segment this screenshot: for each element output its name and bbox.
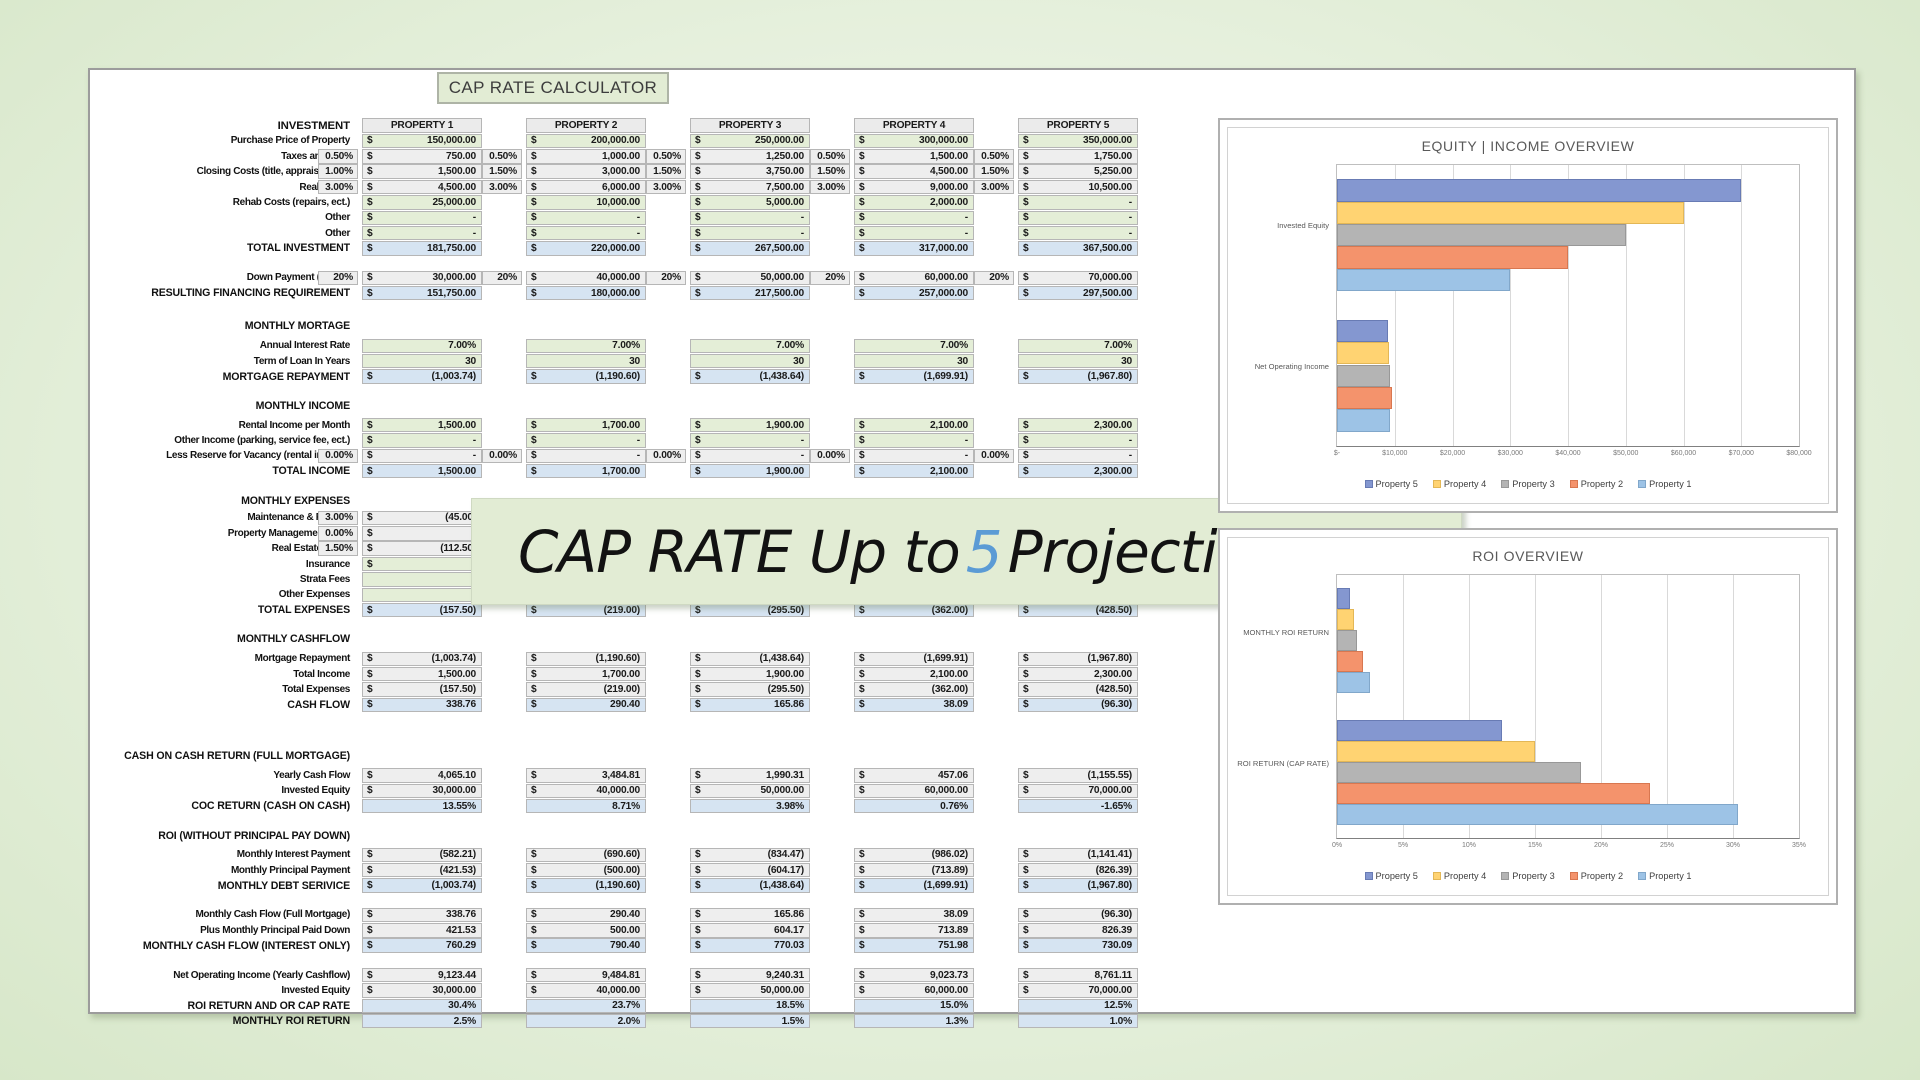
value-cell[interactable]: 8.71% — [526, 799, 646, 813]
value-cell[interactable]: $38.09 — [854, 698, 974, 712]
value-cell[interactable]: 7.00% — [362, 339, 482, 353]
legend-label: Property 4 — [1444, 871, 1486, 881]
table-row: Rental Income per Month$1,500.00$1,700.0… — [100, 418, 1200, 433]
chart-bar — [1337, 202, 1684, 224]
roi-overview-chart: ROI OVERVIEW 0%5%10%15%20%25%30%35%MONTH… — [1218, 528, 1838, 905]
value-cell[interactable]: $- — [1018, 226, 1138, 240]
value-cell[interactable]: $421.53 — [362, 923, 482, 937]
column-header: PROPERTY 3 — [690, 118, 810, 132]
value-cell[interactable]: $50,000.00 — [690, 983, 810, 997]
chart-bar — [1337, 609, 1354, 630]
value-cell[interactable]: $10,500.00 — [1018, 180, 1138, 194]
value-cell[interactable]: 18.5% — [690, 999, 810, 1013]
table-row: Rehab Costs (repairs, ect.)$25,000.00$10… — [100, 195, 1200, 210]
value-cell[interactable]: $- — [1018, 433, 1138, 447]
value-cell[interactable]: $60,000.00 — [854, 271, 974, 285]
value-cell[interactable]: 12.5% — [1018, 999, 1138, 1013]
value-cell[interactable]: $730.09 — [1018, 938, 1138, 952]
value-cell[interactable]: $297,500.00 — [1018, 286, 1138, 300]
table-row: CASH ON CASH RETURN (FULL MORTGAGE) — [100, 749, 1200, 764]
legend-item[interactable]: Property 1 — [1638, 479, 1691, 489]
percent-cell[interactable]: 0.50% — [810, 149, 850, 163]
chart2-title: ROI OVERVIEW — [1228, 548, 1828, 564]
value-cell[interactable]: 15.0% — [854, 999, 974, 1013]
value-cell[interactable]: $165.86 — [690, 908, 810, 922]
legend-swatch — [1638, 480, 1646, 488]
table-row: ROI RETURN AND OR CAP RATE30.4%23.7%18.5… — [100, 998, 1200, 1013]
legend-swatch — [1501, 480, 1509, 488]
legend-swatch — [1365, 480, 1373, 488]
row-label: MONTHLY CASHFLOW — [50, 633, 350, 645]
legend-item[interactable]: Property 3 — [1501, 871, 1554, 881]
value-cell[interactable]: $60,000.00 — [854, 983, 974, 997]
value-cell[interactable]: 1.3% — [854, 1014, 974, 1028]
value-cell[interactable]: $(219.00) — [526, 603, 646, 617]
value-cell[interactable]: $38.09 — [854, 908, 974, 922]
value-cell[interactable]: $338.76 — [362, 698, 482, 712]
percent-cell[interactable]: 0.50% — [482, 149, 522, 163]
legend-item[interactable]: Property 4 — [1433, 871, 1486, 881]
value-cell[interactable]: $(1,003.74) — [362, 369, 482, 383]
value-cell[interactable]: $(1,967.80) — [1018, 369, 1138, 383]
table-row: Monthly Interest Payment$(582.21)$(690.6… — [100, 847, 1200, 862]
value-cell[interactable]: $1,500.00 — [362, 418, 482, 432]
value-cell[interactable]: $- — [362, 557, 482, 571]
legend-label: Property 1 — [1649, 479, 1691, 489]
row-label: Monthly Principal Payment — [50, 865, 350, 876]
value-cell[interactable]: $(1,699.91) — [854, 652, 974, 666]
value-cell[interactable]: 30 — [854, 354, 974, 368]
value-cell[interactable]: $(1,190.60) — [526, 369, 646, 383]
value-cell[interactable]: $790.40 — [526, 938, 646, 952]
value-cell[interactable]: $751.98 — [854, 938, 974, 952]
value-cell[interactable]: $713.89 — [854, 923, 974, 937]
value-cell[interactable]: -1.65% — [1018, 799, 1138, 813]
value-cell[interactable]: $4,500.00 — [362, 180, 482, 194]
value-cell[interactable]: $- — [854, 433, 974, 447]
x-axis-tick: 30% — [1726, 842, 1740, 849]
row-label: MORTGAGE REPAYMENT — [50, 371, 350, 383]
table-row: Monthly Cash Flow (Full Mortgage)$338.76… — [100, 907, 1200, 922]
table-row: ROI (WITHOUT PRINCIPAL PAY DOWN) — [100, 828, 1200, 843]
value-cell[interactable]: $217,500.00 — [690, 286, 810, 300]
table-row: Purchase Price of Property$150,000.00$20… — [100, 133, 1200, 148]
chart2-frame: ROI OVERVIEW 0%5%10%15%20%25%30%35%MONTH… — [1227, 537, 1829, 896]
value-cell[interactable]: $(157.50) — [362, 603, 482, 617]
value-cell[interactable]: $2,100.00 — [854, 667, 974, 681]
value-cell[interactable]: $40,000.00 — [526, 983, 646, 997]
x-axis-tick: $20,000 — [1440, 450, 1465, 457]
value-cell[interactable]: $50,000.00 — [690, 271, 810, 285]
value-cell[interactable]: $10,000.00 — [526, 195, 646, 209]
value-cell[interactable]: $604.17 — [690, 923, 810, 937]
x-axis-tick: 0% — [1332, 842, 1342, 849]
value-cell[interactable]: $30,000.00 — [362, 983, 482, 997]
value-cell[interactable]: $- — [854, 226, 974, 240]
value-cell[interactable]: $5,250.00 — [1018, 164, 1138, 178]
value-cell[interactable]: $9,240.31 — [690, 968, 810, 982]
value-cell[interactable]: $220,000.00 — [526, 241, 646, 255]
value-cell[interactable]: $7,500.00 — [690, 180, 810, 194]
value-cell[interactable]: $2,100.00 — [854, 464, 974, 478]
value-cell[interactable]: $200,000.00 — [526, 134, 646, 148]
value-cell[interactable]: 7.00% — [854, 339, 974, 353]
legend-item[interactable]: Property 4 — [1433, 479, 1486, 489]
equity-income-chart: EQUITY | INCOME OVERVIEW $-$10,000$20,00… — [1218, 118, 1838, 513]
table-row: Other$-$-$-$-$- — [100, 225, 1200, 240]
value-cell[interactable]: $290.40 — [526, 698, 646, 712]
value-cell[interactable]: $4,065.10 — [362, 768, 482, 782]
value-cell[interactable]: $9,023.73 — [854, 968, 974, 982]
percent-cell[interactable]: 0.00% — [646, 449, 686, 463]
row-label: CASH ON CASH RETURN (FULL MORTGAGE) — [50, 750, 350, 762]
value-cell[interactable]: $9,123.44 — [362, 968, 482, 982]
chart-bar — [1337, 720, 1502, 741]
value-cell[interactable]: 7.00% — [1018, 339, 1138, 353]
percent-cell[interactable]: 0.00% — [482, 449, 522, 463]
value-cell[interactable]: $(96.30) — [1018, 698, 1138, 712]
legend-swatch — [1638, 872, 1646, 880]
value-cell[interactable]: $(219.00) — [526, 682, 646, 696]
value-cell[interactable]: $(157.50) — [362, 682, 482, 696]
value-cell[interactable]: $4,500.00 — [854, 164, 974, 178]
row-label: Realtor Fee — [50, 182, 350, 193]
row-label: COC RETURN (CASH ON CASH) — [50, 800, 350, 812]
row-label: Invested Equity — [50, 785, 350, 796]
value-cell[interactable]: 2.0% — [526, 1014, 646, 1028]
percent-cell[interactable]: 20% — [974, 271, 1014, 285]
chart-bar — [1337, 387, 1392, 409]
value-cell[interactable]: $1,500.00 — [362, 667, 482, 681]
value-cell[interactable]: $(1,155.55) — [1018, 768, 1138, 782]
table-row: Monthly Principal Payment$(421.53)$(500.… — [100, 863, 1200, 878]
legend-swatch — [1365, 872, 1373, 880]
value-cell[interactable]: $367,500.00 — [1018, 241, 1138, 255]
value-cell[interactable]: 1.0% — [1018, 1014, 1138, 1028]
value-cell[interactable]: $151,750.00 — [362, 286, 482, 300]
value-cell[interactable]: 3.98% — [690, 799, 810, 813]
percent-cell[interactable]: 1.50% — [810, 164, 850, 178]
percent-cell[interactable]: 20% — [318, 271, 358, 285]
value-cell[interactable]: $1,750.00 — [1018, 149, 1138, 163]
value-cell[interactable]: 13.55% — [362, 799, 482, 813]
gridline — [1667, 575, 1668, 838]
gridline — [1684, 165, 1685, 446]
percent-cell[interactable]: 3.00% — [318, 180, 358, 194]
value-cell[interactable]: $750.00 — [362, 149, 482, 163]
legend-item[interactable]: Property 1 — [1638, 871, 1691, 881]
value-cell[interactable]: $- — [526, 449, 646, 463]
row-label: TOTAL INCOME — [50, 465, 350, 477]
table-row: RESULTING FINANCING REQUIREMENT$151,750.… — [100, 286, 1200, 301]
value-cell[interactable]: $70,000.00 — [1018, 983, 1138, 997]
value-cell[interactable]: $2,300.00 — [1018, 667, 1138, 681]
value-cell[interactable]: $1,700.00 — [526, 464, 646, 478]
legend-swatch — [1433, 480, 1441, 488]
percent-cell[interactable]: 20% — [482, 271, 522, 285]
x-axis-tick: $40,000 — [1555, 450, 1580, 457]
percent-cell[interactable]: 3.00% — [810, 180, 850, 194]
table-row: Realtor Fee3.00%$4,500.003.00%$6,000.003… — [100, 179, 1200, 194]
legend-item[interactable]: Property 5 — [1365, 479, 1418, 489]
row-label: MONTHLY ROI RETURN — [50, 1015, 350, 1027]
percent-cell[interactable]: 0.00% — [810, 449, 850, 463]
row-label: Rehab Costs (repairs, ect.) — [50, 197, 350, 208]
value-cell[interactable]: $(112.50) — [362, 541, 482, 555]
percent-cell[interactable]: 3.00% — [974, 180, 1014, 194]
percent-cell[interactable]: 3.00% — [318, 511, 358, 525]
value-cell[interactable]: $(1,190.60) — [526, 878, 646, 892]
value-cell[interactable]: $760.29 — [362, 938, 482, 952]
value-cell[interactable]: $9,484.81 — [526, 968, 646, 982]
chart-bar — [1337, 179, 1741, 201]
value-cell[interactable]: $(428.50) — [1018, 603, 1138, 617]
chart-bar — [1337, 365, 1390, 387]
value-cell[interactable]: $6,000.00 — [526, 180, 646, 194]
x-axis-tick: 35% — [1792, 842, 1806, 849]
category-label: MONTHLY ROI RETURN — [1243, 628, 1329, 637]
value-cell[interactable]: $- — [526, 226, 646, 240]
percent-cell[interactable]: 0.50% — [974, 149, 1014, 163]
value-cell[interactable]: $- — [362, 526, 482, 540]
value-cell[interactable]: $350,000.00 — [1018, 134, 1138, 148]
value-cell[interactable]: $180,000.00 — [526, 286, 646, 300]
value-cell[interactable]: $457.06 — [854, 768, 974, 782]
value-cell[interactable]: $(362.00) — [854, 682, 974, 696]
value-cell[interactable]: $250,000.00 — [690, 134, 810, 148]
value-cell[interactable]: 7.00% — [690, 339, 810, 353]
percent-cell[interactable]: 20% — [810, 271, 850, 285]
value-cell[interactable]: 0.76% — [854, 799, 974, 813]
percent-cell[interactable]: 1.50% — [646, 164, 686, 178]
percent-cell[interactable]: 0.50% — [318, 149, 358, 163]
value-cell[interactable]: $9,000.00 — [854, 180, 974, 194]
value-cell[interactable]: $- — [362, 211, 482, 225]
value-cell[interactable]: $8,761.11 — [1018, 968, 1138, 982]
value-cell[interactable]: $(834.47) — [690, 848, 810, 862]
row-label: TOTAL INVESTMENT — [50, 242, 350, 254]
value-cell[interactable]: $500.00 — [526, 923, 646, 937]
chart-bar — [1337, 651, 1363, 672]
value-cell[interactable]: 30 — [1018, 354, 1138, 368]
value-cell[interactable]: $(1,699.91) — [854, 369, 974, 383]
value-cell[interactable]: 23.7% — [526, 999, 646, 1013]
value-cell[interactable]: $(1,699.91) — [854, 878, 974, 892]
value-cell[interactable]: $- — [854, 211, 974, 225]
value-cell[interactable]: $- — [690, 211, 810, 225]
value-cell[interactable]: 30 — [362, 354, 482, 368]
value-cell[interactable]: $- — [362, 433, 482, 447]
category-label: Invested Equity — [1277, 221, 1329, 230]
value-cell[interactable]: $(1,141.41) — [1018, 848, 1138, 862]
value-cell[interactable]: $(428.50) — [1018, 682, 1138, 696]
value-cell[interactable]: $3,000.00 — [526, 164, 646, 178]
value-cell[interactable]: $(1,438.64) — [690, 652, 810, 666]
value-cell[interactable]: $- — [690, 433, 810, 447]
value-cell[interactable]: $5,000.00 — [690, 195, 810, 209]
value-cell[interactable]: $338.76 — [362, 908, 482, 922]
value-cell[interactable]: 2.5% — [362, 1014, 482, 1028]
value-cell[interactable]: 30 — [690, 354, 810, 368]
value-cell[interactable]: $1,900.00 — [690, 464, 810, 478]
value-cell[interactable]: $- — [1018, 449, 1138, 463]
chart1-legend: Property 5Property 4Property 3Property 2… — [1228, 479, 1828, 489]
value-cell[interactable]: $1,700.00 — [526, 667, 646, 681]
value-cell[interactable]: $(1,438.64) — [690, 878, 810, 892]
value-cell[interactable]: $1,700.00 — [526, 418, 646, 432]
x-axis-tick: $- — [1334, 450, 1340, 457]
value-cell[interactable]: $300,000.00 — [854, 134, 974, 148]
value-cell[interactable]: $25,000.00 — [362, 195, 482, 209]
value-cell[interactable]: $- — [690, 226, 810, 240]
value-cell[interactable]: $- — [362, 226, 482, 240]
value-cell[interactable]: $(713.89) — [854, 863, 974, 877]
value-cell[interactable]: $- — [854, 449, 974, 463]
legend-item[interactable]: Property 5 — [1365, 871, 1418, 881]
value-cell[interactable]: $2,300.00 — [1018, 464, 1138, 478]
value-cell[interactable]: $(1,438.64) — [690, 369, 810, 383]
percent-cell[interactable]: 3.00% — [646, 180, 686, 194]
value-cell[interactable]: $(1,967.80) — [1018, 652, 1138, 666]
value-cell[interactable]: $30,000.00 — [362, 271, 482, 285]
percent-cell[interactable]: 0.50% — [646, 149, 686, 163]
value-cell[interactable]: $40,000.00 — [526, 271, 646, 285]
value-cell[interactable]: $290.40 — [526, 908, 646, 922]
row-label: Plus Monthly Principal Paid Down — [50, 925, 350, 936]
chart-bar — [1337, 762, 1581, 783]
value-cell[interactable]: $181,750.00 — [362, 241, 482, 255]
value-cell[interactable] — [362, 572, 482, 586]
value-cell[interactable]: $(421.53) — [362, 863, 482, 877]
value-cell[interactable]: $2,300.00 — [1018, 418, 1138, 432]
value-cell[interactable]: 1.5% — [690, 1014, 810, 1028]
value-cell[interactable]: $40,000.00 — [526, 784, 646, 798]
value-cell[interactable]: $317,000.00 — [854, 241, 974, 255]
value-cell[interactable]: $70,000.00 — [1018, 784, 1138, 798]
value-cell[interactable]: $1,900.00 — [690, 418, 810, 432]
legend-item[interactable]: Property 3 — [1501, 479, 1554, 489]
x-axis-tick: $10,000 — [1382, 450, 1407, 457]
table-row: Yearly Cash Flow$4,065.10$3,484.81$1,990… — [100, 768, 1200, 783]
row-label: Other — [50, 228, 350, 239]
gridline — [1733, 575, 1734, 838]
row-label: Less Reserve for Vacancy (rental income) — [50, 450, 350, 461]
table-row: Total Expenses$(157.50)$(219.00)$(295.50… — [100, 682, 1200, 697]
value-cell[interactable]: $- — [526, 211, 646, 225]
value-cell[interactable]: $- — [690, 449, 810, 463]
value-cell[interactable]: $50,000.00 — [690, 784, 810, 798]
value-cell[interactable]: $1,500.00 — [362, 464, 482, 478]
x-axis-tick: 15% — [1528, 842, 1542, 849]
value-cell[interactable]: $(45.00) — [362, 511, 482, 525]
value-cell[interactable]: $(582.21) — [362, 848, 482, 862]
value-cell[interactable]: $826.39 — [1018, 923, 1138, 937]
x-axis-tick: 20% — [1594, 842, 1608, 849]
value-cell[interactable]: 30.4% — [362, 999, 482, 1013]
percent-cell[interactable]: 1.00% — [318, 164, 358, 178]
value-cell[interactable]: $1,250.00 — [690, 149, 810, 163]
value-cell[interactable]: $30,000.00 — [362, 784, 482, 798]
value-cell[interactable]: $2,100.00 — [854, 418, 974, 432]
value-cell[interactable]: $- — [526, 433, 646, 447]
category-label: Net Operating Income — [1255, 362, 1329, 371]
value-cell[interactable]: $(1,190.60) — [526, 652, 646, 666]
value-cell[interactable]: $1,500.00 — [362, 164, 482, 178]
legend-item[interactable]: Property 2 — [1570, 479, 1623, 489]
value-cell[interactable]: $(1,003.74) — [362, 652, 482, 666]
value-cell[interactable]: $70,000.00 — [1018, 271, 1138, 285]
value-cell[interactable]: $150,000.00 — [362, 134, 482, 148]
x-axis-tick: $30,000 — [1498, 450, 1523, 457]
value-cell[interactable]: $(604.17) — [690, 863, 810, 877]
value-cell[interactable]: $(826.39) — [1018, 863, 1138, 877]
value-cell[interactable]: $1,500.00 — [854, 149, 974, 163]
value-cell[interactable]: $(1,003.74) — [362, 878, 482, 892]
table-row: Net Operating Income (Yearly Cashflow)$9… — [100, 967, 1200, 982]
percent-cell[interactable]: 1.50% — [974, 164, 1014, 178]
percent-cell[interactable]: 20% — [646, 271, 686, 285]
percent-cell[interactable]: 1.50% — [318, 541, 358, 555]
value-cell[interactable]: $1,900.00 — [690, 667, 810, 681]
value-cell[interactable]: $(690.60) — [526, 848, 646, 862]
chart-bar — [1337, 320, 1388, 342]
value-cell[interactable]: $165.86 — [690, 698, 810, 712]
value-cell[interactable]: $(295.50) — [690, 603, 810, 617]
value-cell[interactable]: $2,000.00 — [854, 195, 974, 209]
percent-cell[interactable]: 0.00% — [974, 449, 1014, 463]
percent-cell[interactable]: 1.50% — [482, 164, 522, 178]
x-axis-tick: $50,000 — [1613, 450, 1638, 457]
percent-cell[interactable]: 0.00% — [318, 526, 358, 540]
table-row: MONTHLY CASHFLOW — [100, 632, 1200, 647]
value-cell[interactable]: $(1,967.80) — [1018, 878, 1138, 892]
x-axis-tick: 10% — [1462, 842, 1476, 849]
table-row: Down Payment (equity)20%$30,000.0020%$40… — [100, 270, 1200, 285]
value-cell[interactable]: $- — [1018, 195, 1138, 209]
chart-bar — [1337, 588, 1350, 609]
x-axis-tick: 25% — [1660, 842, 1674, 849]
value-cell[interactable]: $267,500.00 — [690, 241, 810, 255]
value-cell[interactable]: 30 — [526, 354, 646, 368]
row-label: Annual Interest Rate — [50, 340, 350, 351]
legend-item[interactable]: Property 2 — [1570, 871, 1623, 881]
value-cell[interactable] — [362, 588, 482, 602]
value-cell[interactable]: $60,000.00 — [854, 784, 974, 798]
value-cell[interactable]: $(500.00) — [526, 863, 646, 877]
value-cell[interactable]: $1,990.31 — [690, 768, 810, 782]
value-cell[interactable]: $(96.30) — [1018, 908, 1138, 922]
value-cell[interactable]: $(362.00) — [854, 603, 974, 617]
row-label: Strata Fees — [50, 574, 350, 585]
value-cell[interactable]: $- — [362, 449, 482, 463]
table-row: Total Income$1,500.00$1,700.00$1,900.00$… — [100, 667, 1200, 682]
percent-cell[interactable]: 0.00% — [318, 449, 358, 463]
value-cell[interactable]: $257,000.00 — [854, 286, 974, 300]
value-cell[interactable]: 7.00% — [526, 339, 646, 353]
percent-cell[interactable]: 3.00% — [482, 180, 522, 194]
legend-label: Property 2 — [1581, 479, 1623, 489]
value-cell[interactable]: $(295.50) — [690, 682, 810, 696]
value-cell[interactable]: $3,484.81 — [526, 768, 646, 782]
value-cell[interactable]: $1,000.00 — [526, 149, 646, 163]
legend-label: Property 5 — [1376, 479, 1418, 489]
value-cell[interactable]: $- — [1018, 211, 1138, 225]
column-header: PROPERTY 1 — [362, 118, 482, 132]
value-cell[interactable]: $(986.02) — [854, 848, 974, 862]
value-cell[interactable]: $770.03 — [690, 938, 810, 952]
value-cell[interactable]: $3,750.00 — [690, 164, 810, 178]
chart-bar — [1337, 672, 1370, 693]
